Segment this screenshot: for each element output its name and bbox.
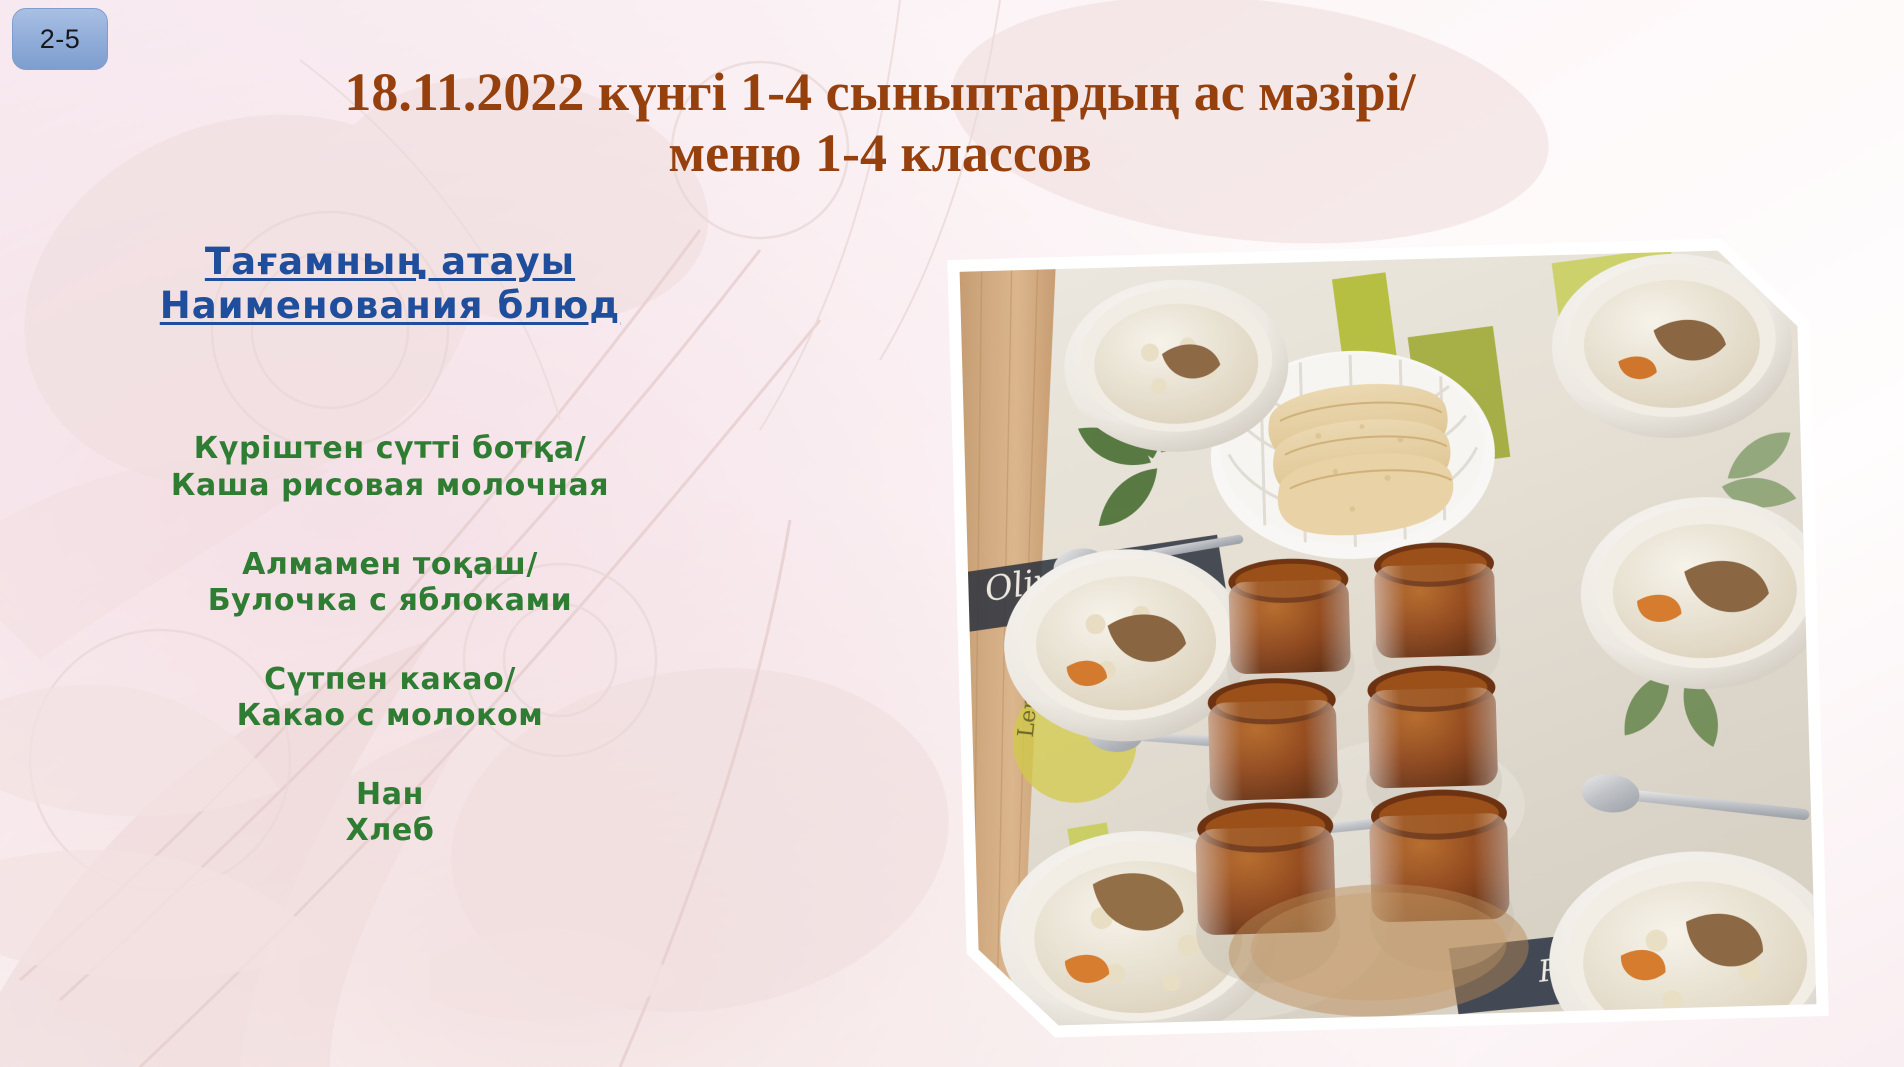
lunch-photo-frame: Parsley Olive Olive Red Olive [947, 236, 1828, 1040]
list-item: Нан Хлеб [40, 777, 740, 850]
dish-list: Күріштен сүтті ботқа/ Каша рисовая молоч… [40, 431, 740, 850]
list-item: Алмамен тоқаш/ Булочка с яблоками [40, 547, 740, 620]
menu-panel: Тағамның атауы Наименования блюд Күріште… [40, 240, 740, 850]
list-item: Күріштен сүтті ботқа/ Каша рисовая молоч… [40, 431, 740, 504]
page-title: 18.11.2022 күнгі 1-4 сыныптардың ас мәзі… [180, 62, 1580, 184]
lunch-photo: Parsley Olive Olive Red Olive [960, 248, 1817, 1027]
slide-number-badge[interactable]: 2-5 [12, 8, 108, 70]
slide-number-label: 2-5 [40, 24, 81, 55]
menu-heading: Тағамның атауы Наименования блюд [40, 240, 740, 327]
list-item: Сүтпен какао/ Какао с молоком [40, 662, 740, 735]
